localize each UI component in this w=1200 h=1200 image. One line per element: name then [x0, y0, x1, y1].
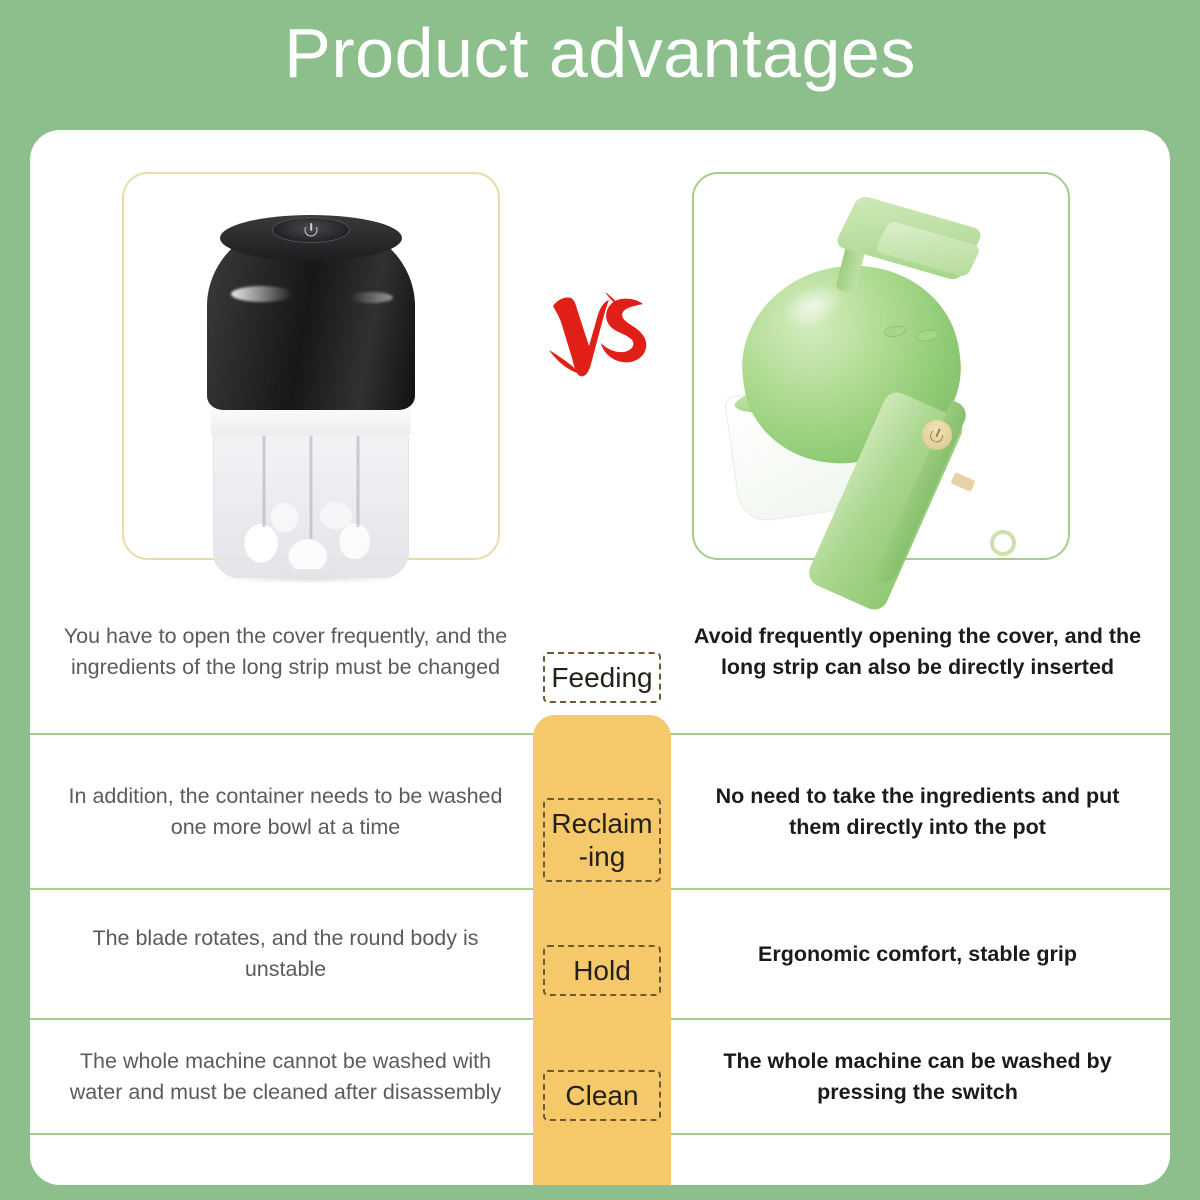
pro-cell: The whole machine can be washed by press…: [670, 1020, 1165, 1133]
lid-highlight: [231, 286, 293, 302]
pro-cell: Avoid frequently opening the cover, and …: [670, 570, 1165, 733]
chopper-jar: [213, 430, 409, 578]
blade-center: [310, 435, 313, 539]
pro-cell: Ergonomic comfort, stable grip: [670, 890, 1165, 1018]
product-hero: [30, 130, 1170, 570]
category-chip-reclaiming: Reclaim -ing: [543, 798, 661, 882]
page-title: Product advantages: [0, 18, 1200, 88]
con-cell: You have to open the cover frequently, a…: [38, 570, 533, 733]
category-chip-clean: Clean: [543, 1070, 661, 1121]
con-cell: The whole machine cannot be washed with …: [38, 1020, 533, 1133]
hanging-loop: [986, 526, 1020, 560]
power-icon: [272, 217, 350, 243]
category-chip-hold: Hold: [543, 945, 661, 996]
category-chip-feeding: Feeding: [543, 652, 661, 703]
black-chopper-image: [124, 174, 498, 558]
handle-label: [951, 472, 976, 492]
left-product-box: [122, 172, 500, 560]
con-cell: In addition, the container needs to be w…: [38, 735, 533, 888]
right-product-box: [692, 172, 1070, 560]
content-card: You have to open the cover frequently, a…: [30, 130, 1170, 1185]
chopper-lid: [207, 220, 415, 410]
comparison-table: You have to open the cover frequently, a…: [30, 570, 1170, 1185]
blade-left: [263, 435, 266, 527]
green-chopper-image: [694, 174, 1068, 558]
versus-badge: [545, 288, 655, 384]
con-cell: The blade rotates, and the round body is…: [38, 890, 533, 1018]
pro-cell: No need to take the ingredients and put …: [670, 735, 1165, 888]
category-column: Feeding Reclaim -ing Hold Clean: [533, 715, 671, 1185]
blade-right: [356, 435, 359, 527]
lid-highlight-2: [349, 292, 393, 303]
chopper-lid-top: [220, 215, 402, 261]
